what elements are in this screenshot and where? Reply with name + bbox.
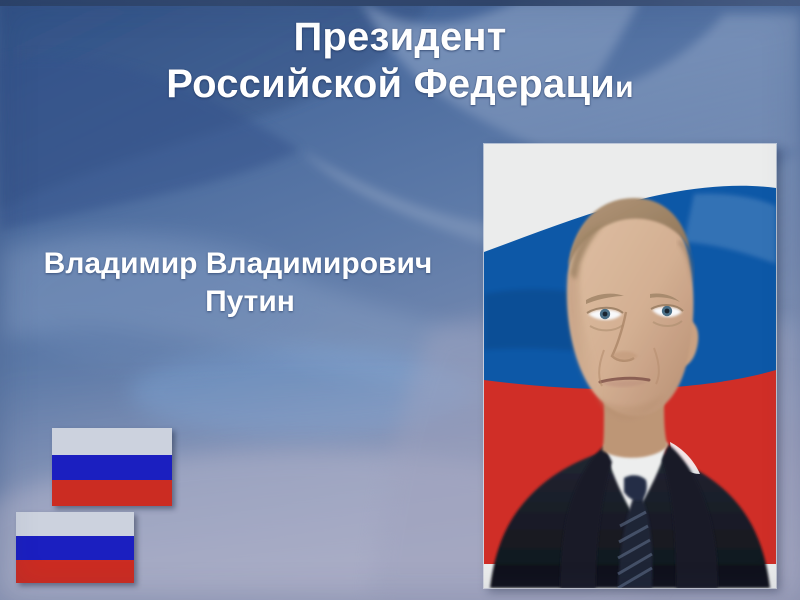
person-name-line-1: Владимир Владимирович — [0, 245, 480, 283]
title-line-2: Российской Федерации — [0, 61, 800, 108]
portrait-photo-image — [484, 144, 776, 588]
flag-stripe-white — [16, 512, 134, 536]
russian-flag-bottom — [16, 512, 134, 583]
top-accent-band — [0, 0, 800, 6]
title-line-2-main: Российской Федераци — [166, 62, 615, 106]
person-name: Владимир Владимирович Путин — [0, 245, 480, 322]
flag-stripe-red — [16, 560, 134, 583]
flag-stripe-blue — [52, 455, 172, 481]
presentation-slide: Президент Российской Федерации Владимир … — [0, 0, 800, 600]
person-name-line-2: Путин — [20, 283, 480, 321]
portrait-photo — [484, 144, 776, 588]
title-line-1: Президент — [0, 14, 800, 61]
russian-flag-top — [52, 428, 172, 506]
title-line-2-tail: и — [615, 71, 634, 104]
flag-stripe-red — [52, 480, 172, 506]
flag-stripe-white — [52, 428, 172, 455]
flag-stripe-blue — [16, 536, 134, 559]
slide-title: Президент Российской Федерации — [0, 14, 800, 108]
